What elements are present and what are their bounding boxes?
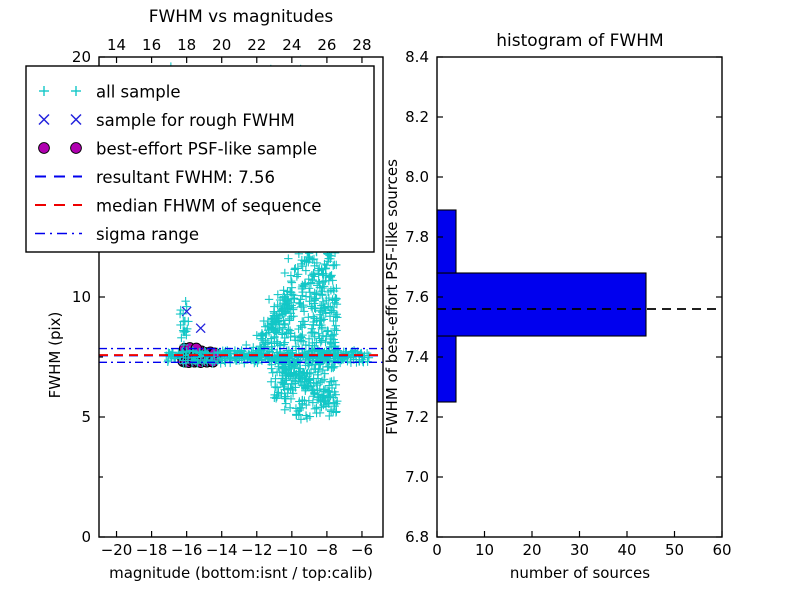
x-tick-label: −10 (276, 541, 308, 559)
x-tick-label: −12 (241, 541, 273, 559)
x-tick-label: −16 (171, 541, 203, 559)
x-top-tick-label: 28 (352, 36, 371, 54)
left-xaxis-label: magnitude (bottom:isnt / top:calib) (109, 564, 373, 582)
x-tick-label: −20 (101, 541, 133, 559)
legend-item-label: all sample (96, 83, 181, 102)
y-tick-label: 10 (72, 288, 91, 306)
legend-dot-icon (71, 143, 82, 154)
x-tick-label: −8 (316, 541, 338, 559)
legend-box (26, 66, 374, 252)
legend-item-label: sample for rough FWHM (96, 111, 295, 130)
x-top-tick-label: 16 (142, 36, 161, 54)
all-sample-marker (330, 377, 338, 385)
x-top-tick-label: 22 (247, 36, 266, 54)
all-sample-marker (293, 272, 301, 280)
hist-x-tick-label: 20 (522, 541, 541, 559)
all-sample-marker (332, 326, 340, 334)
all-sample-marker (265, 295, 273, 303)
legend-item-label: resultant FWHM: 7.56 (96, 168, 275, 187)
hist-x-tick-label: 60 (712, 541, 731, 559)
left-yaxis-label: FWHM (pix) (46, 312, 64, 399)
x-tick-label: −6 (351, 541, 373, 559)
all-sample-marker (281, 395, 289, 403)
x-top-tick-label: 24 (282, 36, 301, 54)
y-tick-label: 20 (72, 48, 91, 66)
hist-y-tick-label: 6.8 (405, 528, 429, 546)
histogram-bars (437, 210, 646, 402)
all-sample-marker (331, 312, 339, 320)
matplotlib-figure: −20−18−16−14−12−10−8−6141618202224262805… (0, 0, 800, 600)
histogram-bar (437, 273, 646, 336)
hist-y-tick-label: 7.0 (405, 468, 429, 486)
right-panel: 01020304050606.87.07.27.47.67.88.08.28.4… (383, 31, 732, 582)
all-sample-marker (306, 288, 314, 296)
hist-x-tick-label: 10 (475, 541, 494, 559)
x-tick-label: −14 (206, 541, 238, 559)
y-tick-label: 5 (81, 408, 91, 426)
legend-item-label: best-effort PSF-like sample (96, 140, 317, 159)
legend-item-label: sigma range (96, 225, 199, 244)
all-sample-marker (181, 297, 189, 305)
hist-y-tick-label: 7.8 (405, 228, 429, 246)
y-tick-label: 0 (81, 528, 91, 546)
x-tick-label: −18 (136, 541, 168, 559)
all-sample-marker (304, 313, 312, 321)
hist-x-tick-label: 50 (665, 541, 684, 559)
hist-y-tick-label: 7.4 (405, 348, 429, 366)
all-sample-marker (330, 261, 338, 269)
all-sample-marker (297, 415, 305, 423)
all-sample-marker (284, 254, 292, 262)
figure-canvas: −20−18−16−14−12−10−8−6141618202224262805… (0, 0, 800, 600)
right-panel-title: histogram of FWHM (496, 31, 663, 51)
all-sample-marker (286, 404, 294, 412)
hist-x-tick-label: 30 (570, 541, 589, 559)
x-top-tick-label: 20 (212, 36, 231, 54)
hist-y-tick-label: 7.6 (405, 288, 429, 306)
all-sample-marker (281, 406, 289, 414)
histogram-bar (437, 336, 456, 402)
hist-y-tick-label: 8.4 (405, 48, 429, 66)
hist-x-tick-label: 0 (432, 541, 442, 559)
hist-x-tick-label: 40 (617, 541, 636, 559)
x-top-tick-label: 26 (317, 36, 336, 54)
histogram-bar (437, 210, 456, 273)
legend-item-label: median FHWM of sequence (96, 197, 321, 216)
legend-dot-icon (39, 143, 50, 154)
left-panel-title: FWHM vs magnitudes (149, 7, 334, 27)
right-yaxis-label: FWHM of best-effort PSF-like sources (383, 159, 401, 435)
legend: all samplesample for rough FWHMbest-effo… (26, 66, 374, 252)
x-top-tick-label: 18 (177, 36, 196, 54)
x-top-tick-label: 14 (107, 36, 126, 54)
hist-y-tick-label: 7.2 (405, 408, 429, 426)
all-sample-marker (325, 412, 333, 420)
right-xaxis-label: number of sources (510, 564, 650, 582)
rough-sample-marker (196, 324, 205, 333)
hist-y-tick-label: 8.2 (405, 108, 429, 126)
hist-y-tick-label: 8.0 (405, 168, 429, 186)
all-sample-marker (311, 405, 319, 413)
all-sample-marker (267, 364, 275, 372)
